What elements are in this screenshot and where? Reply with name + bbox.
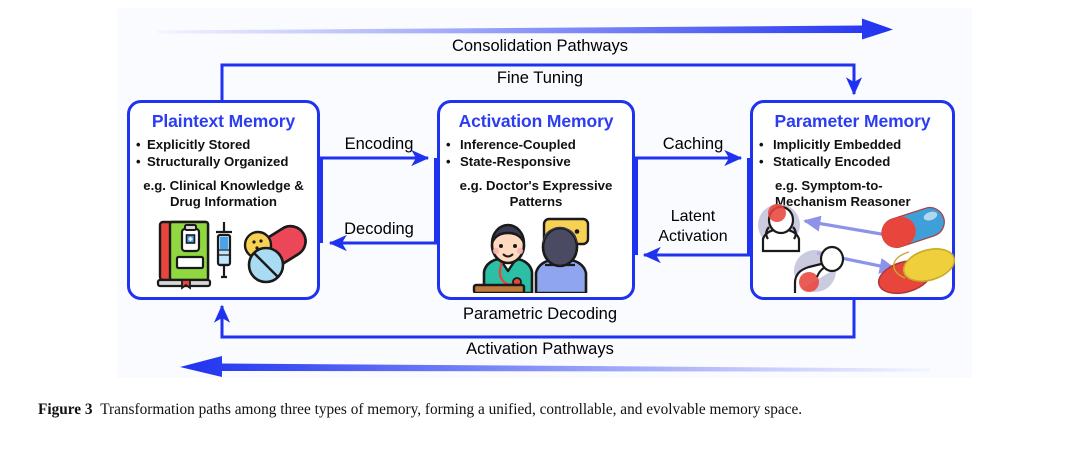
figure-caption-text: Transformation paths among three types o… [100, 401, 802, 418]
label-decoding: Decoding [322, 221, 436, 238]
label-consolidation-pathways: Consolidation Pathways [0, 38, 1080, 55]
box-example-plaintext: e.g. Clinical Knowledge & Drug Informati… [130, 178, 317, 211]
box-bullets-parameter: Implicitly Embedded Statically Encoded [753, 137, 952, 171]
box-title-parameter: Parameter Memory [753, 111, 952, 132]
label-latent-activation-line1: Latent [637, 209, 749, 226]
bullet-item: Explicitly Stored [130, 137, 317, 154]
figure-caption: Figure 3 Transformation paths among thre… [38, 398, 1048, 422]
label-fine-tuning: Fine Tuning [0, 70, 1080, 87]
patient-stomachache-icon [794, 247, 843, 293]
tablets-icon [875, 243, 958, 295]
label-activation-pathways: Activation Pathways [0, 341, 1080, 358]
patient-headache-icon [758, 204, 800, 251]
figure-3-root: Consolidation Pathways Fine Tuning Encod… [0, 0, 1080, 456]
capsule-icon [878, 204, 948, 252]
icon-row-plaintext [130, 217, 317, 293]
label-caching: Caching [637, 136, 749, 153]
activation-pathways-arrow [180, 356, 930, 377]
bullet-item: Structurally Organized [130, 154, 317, 171]
box-example-activation: e.g. Doctor's Expressive Patterns [440, 178, 632, 211]
icon-row-parameter [753, 203, 952, 295]
bullet-item: Inference-Coupled [440, 137, 632, 154]
bullet-item: Statically Encoded [753, 154, 952, 171]
icon-row-activation [440, 217, 632, 293]
bullet-item: State-Responsive [440, 154, 632, 171]
memory-box-plaintext[interactable]: Plaintext Memory Explicitly Stored Struc… [127, 100, 320, 300]
box-bullets-activation: Inference-Coupled State-Responsive [440, 137, 632, 171]
syringe-icon [216, 222, 232, 277]
box-title-plaintext: Plaintext Memory [130, 111, 317, 132]
pills-icon [245, 221, 311, 282]
doctor-icon [474, 225, 532, 293]
box-title-activation: Activation Memory [440, 111, 632, 132]
memory-box-activation[interactable]: Activation Memory Inference-Coupled Stat… [437, 100, 635, 300]
box-bullets-plaintext: Explicitly Stored Structurally Organized [130, 137, 317, 171]
label-latent-activation-line2: Activation [633, 229, 753, 246]
memory-box-parameter[interactable]: Parameter Memory Implicitly Embedded Sta… [750, 100, 955, 300]
medicine-book-icon [158, 222, 210, 288]
figure-caption-label: Figure 3 [38, 401, 93, 418]
bullet-item: Implicitly Embedded [753, 137, 952, 154]
label-parametric-decoding: Parametric Decoding [0, 306, 1080, 323]
label-encoding: Encoding [322, 136, 436, 153]
